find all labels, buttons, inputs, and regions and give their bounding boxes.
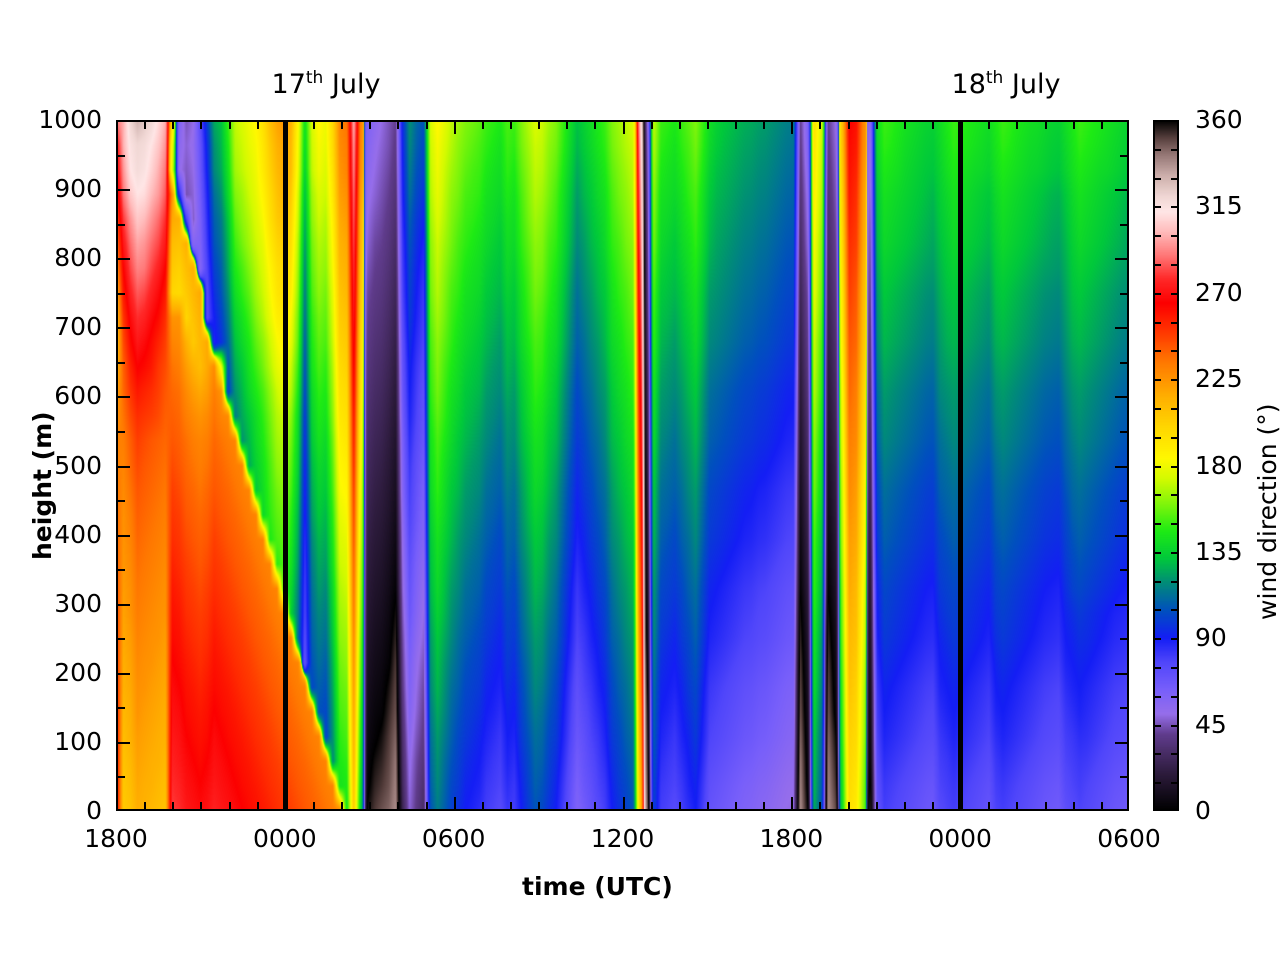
y-tick-right [1115, 742, 1129, 744]
colorbar-tick [1153, 494, 1161, 496]
colorbar-tick [1153, 293, 1161, 295]
x-tick-bottom [735, 802, 737, 811]
colorbar-tick [1153, 782, 1161, 784]
y-tick-right [1115, 604, 1129, 606]
colorbar-tick [1153, 609, 1161, 611]
colorbar-tick [1171, 782, 1179, 784]
y-tick-label: 400 [6, 520, 102, 549]
day2-suffix: th [986, 68, 1003, 88]
colorbar-tick-label: 90 [1195, 623, 1265, 652]
y-tick-left [116, 327, 130, 329]
y-tick-left [116, 604, 130, 606]
colorbar-tick [1153, 350, 1161, 352]
x-tick-top [791, 120, 793, 134]
y-tick-left [116, 293, 125, 295]
y-tick-right [1120, 224, 1129, 226]
x-tick-top [819, 120, 821, 129]
x-tick-bottom [454, 797, 456, 811]
colorbar-tick-label: 225 [1195, 364, 1265, 393]
x-tick-top [932, 120, 934, 129]
x-tick-top [229, 120, 231, 129]
colorbar-tick [1153, 149, 1161, 151]
day1-suffix: th [306, 68, 323, 88]
colorbar-tick [1153, 552, 1161, 554]
x-tick-label: 0600 [394, 824, 514, 853]
x-tick-bottom [763, 802, 765, 811]
x-tick-label: 1800 [731, 824, 851, 853]
colorbar-tick [1153, 264, 1161, 266]
y-tick-right [1120, 776, 1129, 778]
colorbar-tick [1153, 408, 1161, 410]
x-tick-bottom [876, 802, 878, 811]
colorbar-tick [1153, 322, 1161, 324]
day-label-17th-july: 17th July [226, 68, 426, 100]
colorbar-tick [1153, 696, 1161, 698]
y-tick-label: 900 [6, 174, 102, 203]
y-tick-right [1120, 638, 1129, 640]
colorbar-tick [1171, 609, 1179, 611]
x-tick-top [538, 120, 540, 129]
colorbar-tick [1153, 638, 1161, 640]
x-tick-top [623, 120, 625, 134]
colorbar-tick-label: 315 [1195, 191, 1265, 220]
x-tick-bottom [623, 797, 625, 811]
x-tick-top [848, 120, 850, 129]
colorbar-tick [1171, 437, 1179, 439]
colorbar-tick [1171, 638, 1179, 640]
y-tick-left [116, 673, 130, 675]
y-tick-right [1120, 500, 1129, 502]
y-tick-right [1120, 293, 1129, 295]
day-boundary-line [958, 120, 963, 811]
colorbar-tick [1171, 350, 1179, 352]
x-tick-bottom [144, 802, 146, 811]
y-tick-right [1115, 673, 1129, 675]
y-tick-left [116, 224, 125, 226]
x-tick-top [313, 120, 315, 129]
y-tick-left [116, 466, 130, 468]
colorbar-tick [1153, 667, 1161, 669]
x-tick-label: 0000 [225, 824, 345, 853]
y-tick-label: 300 [6, 589, 102, 618]
colorbar-tick [1171, 178, 1179, 180]
colorbar-tick [1153, 206, 1161, 208]
y-tick-label: 100 [6, 727, 102, 756]
colorbar-tick [1171, 667, 1179, 669]
y-tick-label: 800 [6, 243, 102, 272]
x-tick-bottom [904, 802, 906, 811]
colorbar-tick [1153, 379, 1161, 381]
x-tick-top [1045, 120, 1047, 129]
y-tick-label: 500 [6, 451, 102, 480]
x-tick-bottom [1101, 802, 1103, 811]
y-tick-label: 1000 [6, 105, 102, 134]
day-boundary-line [283, 120, 288, 811]
colorbar-tick [1171, 581, 1179, 583]
colorbar-tick [1153, 466, 1161, 468]
x-tick-bottom [594, 802, 596, 811]
x-tick-bottom [510, 802, 512, 811]
x-tick-bottom [538, 802, 540, 811]
y-tick-right [1120, 569, 1129, 571]
colorbar-tick [1171, 235, 1179, 237]
x-tick-top [566, 120, 568, 129]
y-tick-left [116, 742, 130, 744]
x-tick-bottom [369, 802, 371, 811]
y-tick-right [1120, 707, 1129, 709]
day2-month: July [1003, 69, 1060, 100]
y-tick-left [116, 258, 130, 260]
y-tick-left [116, 638, 125, 640]
colorbar-tick [1171, 696, 1179, 698]
x-tick-top [144, 120, 146, 129]
x-tick-top [594, 120, 596, 129]
x-tick-top [988, 120, 990, 129]
y-tick-right [1120, 155, 1129, 157]
colorbar-tick [1171, 408, 1179, 410]
x-tick-top [707, 120, 709, 129]
x-tick-bottom [848, 802, 850, 811]
y-tick-left [116, 569, 125, 571]
x-tick-top [1101, 120, 1103, 129]
x-tick-bottom [1045, 802, 1047, 811]
x-tick-bottom [1016, 802, 1018, 811]
colorbar-tick [1153, 235, 1161, 237]
x-tick-top [904, 120, 906, 129]
x-tick-top [397, 120, 399, 129]
colorbar-tick [1171, 379, 1179, 381]
x-tick-bottom [791, 797, 793, 811]
x-tick-top [257, 120, 259, 129]
x-tick-bottom [819, 802, 821, 811]
x-tick-bottom [482, 802, 484, 811]
x-tick-top [482, 120, 484, 129]
y-tick-label: 600 [6, 381, 102, 410]
y-tick-left [116, 535, 130, 537]
colorbar-tick [1153, 581, 1161, 583]
day-label-18th-july: 18th July [906, 68, 1106, 100]
x-axis-title: time (UTC) [522, 872, 673, 901]
day1-month: July [323, 69, 380, 100]
x-tick-label: 1200 [563, 824, 683, 853]
x-tick-bottom [932, 802, 934, 811]
x-tick-bottom [257, 802, 259, 811]
figure-root: 17th July 18th July time (UTC) height (m… [0, 0, 1280, 960]
y-tick-left [116, 396, 130, 398]
colorbar-tick [1153, 437, 1161, 439]
x-tick-bottom [1073, 802, 1075, 811]
colorbar-tick [1171, 264, 1179, 266]
x-tick-bottom [651, 802, 653, 811]
y-tick-left [116, 500, 125, 502]
colorbar-tick [1153, 523, 1161, 525]
x-tick-top [651, 120, 653, 129]
colorbar-tick [1171, 293, 1179, 295]
x-tick-label: 0600 [1069, 824, 1189, 853]
x-tick-bottom [707, 802, 709, 811]
x-tick-bottom [313, 802, 315, 811]
y-tick-right [1115, 258, 1129, 260]
colorbar-tick [1171, 753, 1179, 755]
x-tick-top [200, 120, 202, 129]
colorbar-tick [1171, 322, 1179, 324]
colorbar-tick-label: 0 [1195, 796, 1265, 825]
x-tick-top [1073, 120, 1075, 129]
x-tick-top [679, 120, 681, 129]
y-tick-label: 700 [6, 312, 102, 341]
x-tick-label: 1800 [56, 824, 176, 853]
x-tick-bottom [200, 802, 202, 811]
x-tick-top [426, 120, 428, 129]
y-tick-right [1115, 535, 1129, 537]
colorbar-tick [1153, 725, 1161, 727]
x-tick-bottom [566, 802, 568, 811]
y-tick-left [116, 155, 125, 157]
x-tick-bottom [988, 802, 990, 811]
x-tick-top [341, 120, 343, 129]
x-tick-top [510, 120, 512, 129]
heatmap-canvas [116, 120, 1129, 811]
y-tick-left [116, 707, 125, 709]
y-tick-right [1115, 189, 1129, 191]
day2-number: 18 [952, 69, 986, 100]
colorbar-tick [1171, 149, 1179, 151]
x-tick-label: 0000 [900, 824, 1020, 853]
colorbar-tick [1171, 725, 1179, 727]
x-tick-top [876, 120, 878, 129]
colorbar-tick-label: 180 [1195, 451, 1265, 480]
y-tick-label: 0 [6, 796, 102, 825]
x-tick-top [172, 120, 174, 129]
colorbar-tick [1171, 206, 1179, 208]
colorbar-tick-label: 360 [1195, 105, 1265, 134]
colorbar-tick [1171, 523, 1179, 525]
colorbar-tick-label: 45 [1195, 710, 1265, 739]
x-tick-bottom [397, 802, 399, 811]
colorbar-title: wind direction (°) [1253, 403, 1280, 620]
y-tick-left [116, 189, 130, 191]
y-tick-left [116, 776, 125, 778]
x-tick-bottom [229, 802, 231, 811]
colorbar-tick [1171, 466, 1179, 468]
x-tick-top [454, 120, 456, 134]
y-tick-right [1115, 466, 1129, 468]
x-tick-top [1016, 120, 1018, 129]
colorbar-tick-label: 270 [1195, 278, 1265, 307]
y-tick-label: 200 [6, 658, 102, 687]
y-tick-right [1120, 362, 1129, 364]
colorbar-tick [1153, 178, 1161, 180]
y-tick-right [1120, 431, 1129, 433]
x-tick-bottom [679, 802, 681, 811]
x-tick-top [369, 120, 371, 129]
day1-number: 17 [272, 69, 306, 100]
x-tick-bottom [426, 802, 428, 811]
colorbar-tick-label: 135 [1195, 537, 1265, 566]
y-tick-right [1115, 327, 1129, 329]
y-tick-left [116, 362, 125, 364]
y-tick-right [1115, 396, 1129, 398]
x-tick-bottom [341, 802, 343, 811]
x-tick-top [735, 120, 737, 129]
colorbar-tick [1171, 494, 1179, 496]
colorbar-tick [1171, 552, 1179, 554]
x-tick-bottom [172, 802, 174, 811]
y-tick-left [116, 431, 125, 433]
x-tick-top [763, 120, 765, 129]
colorbar-tick [1153, 753, 1161, 755]
